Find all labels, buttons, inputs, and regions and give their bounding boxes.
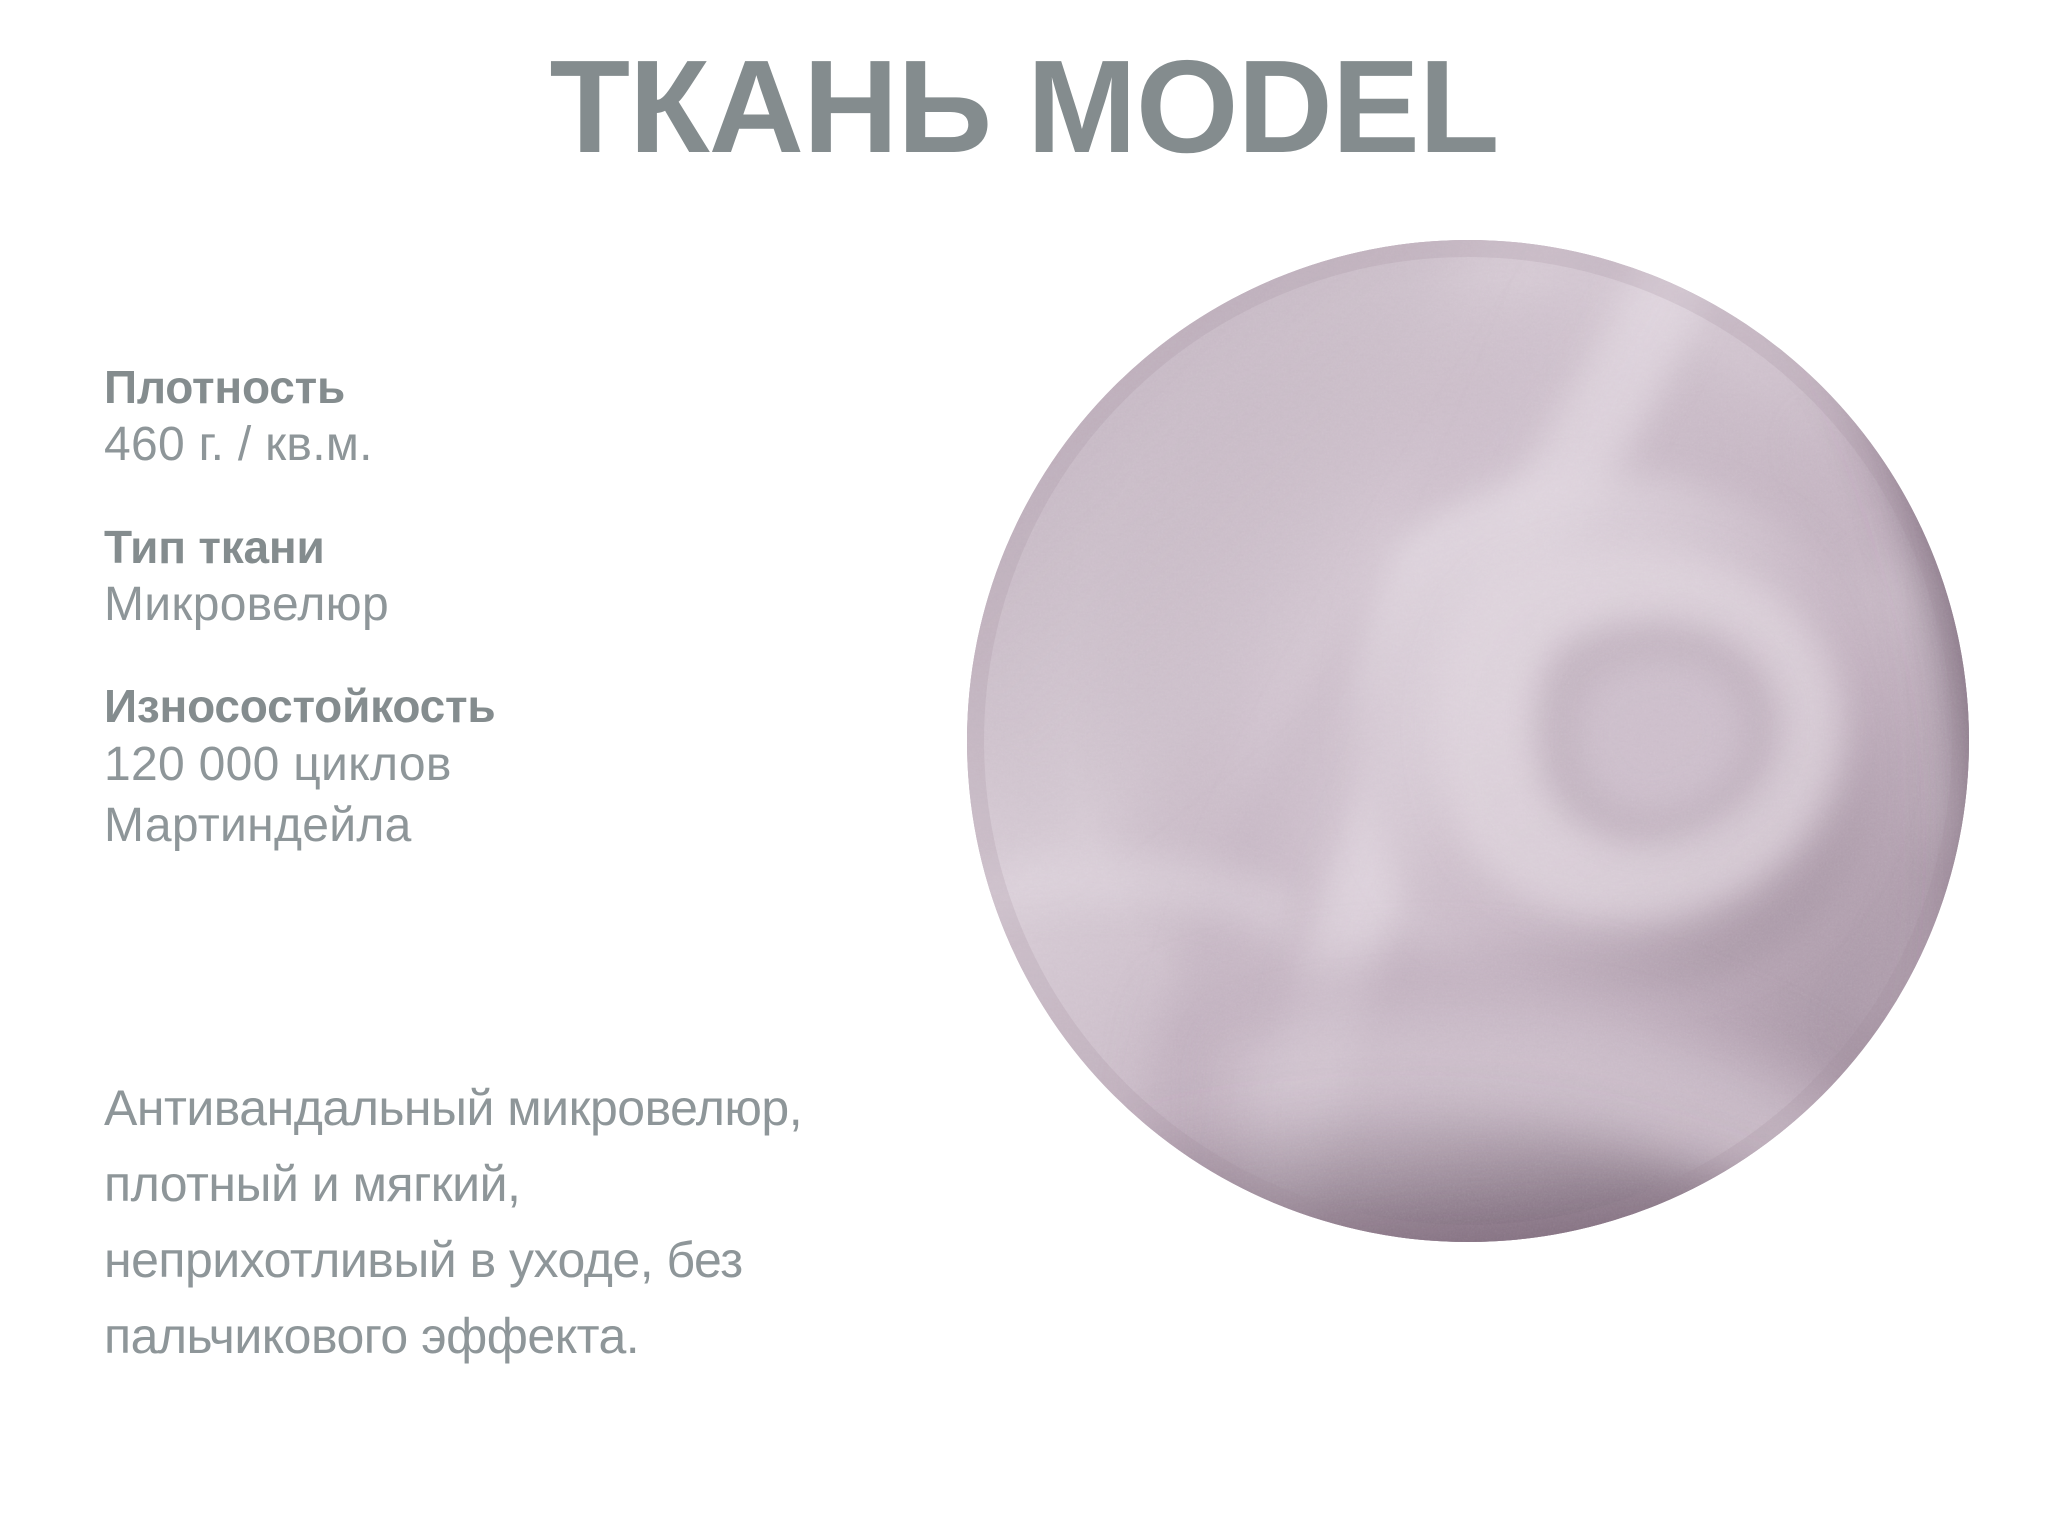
- spec-value-fabric-type: Микровелюр: [104, 574, 904, 635]
- description-line-3: неприхотливый в уходе, без: [104, 1222, 1004, 1298]
- spec-item-density: Плотность 460 г. / кв.м.: [104, 360, 904, 476]
- description-line-2: плотный и мягкий,: [104, 1146, 1004, 1222]
- fabric-swatch-image: [967, 240, 1969, 1242]
- description-paragraph: Антивандальный микровелюр, плотный и мяг…: [104, 1070, 1004, 1374]
- spec-value-abrasion-resistance: 120 000 циклов: [104, 734, 904, 795]
- spec-label-abrasion-resistance: Износостойкость: [104, 679, 904, 733]
- slide-root: ТКАНЬ MODEL Плотность 460 г. / кв.м. Тип…: [0, 0, 2048, 1536]
- fabric-illustration: [967, 240, 1969, 1242]
- spec-label-fabric-type: Тип ткани: [104, 520, 904, 574]
- spec-value-density: 460 г. / кв.м.: [104, 414, 904, 475]
- spec-label-density: Плотность: [104, 360, 904, 414]
- description-line-4: пальчикового эффекта.: [104, 1298, 1004, 1374]
- spec-list: Плотность 460 г. / кв.м. Тип ткани Микро…: [104, 360, 904, 901]
- page-title: ТКАНЬ MODEL: [0, 38, 2048, 177]
- spec-item-fabric-type: Тип ткани Микровелюр: [104, 520, 904, 636]
- description-line-1: Антивандальный микровелюр,: [104, 1070, 1004, 1146]
- spec-value-abrasion-resistance-unit: Мартиндейла: [104, 795, 904, 856]
- spec-item-abrasion-resistance: Износостойкость 120 000 циклов Мартиндей…: [104, 679, 904, 856]
